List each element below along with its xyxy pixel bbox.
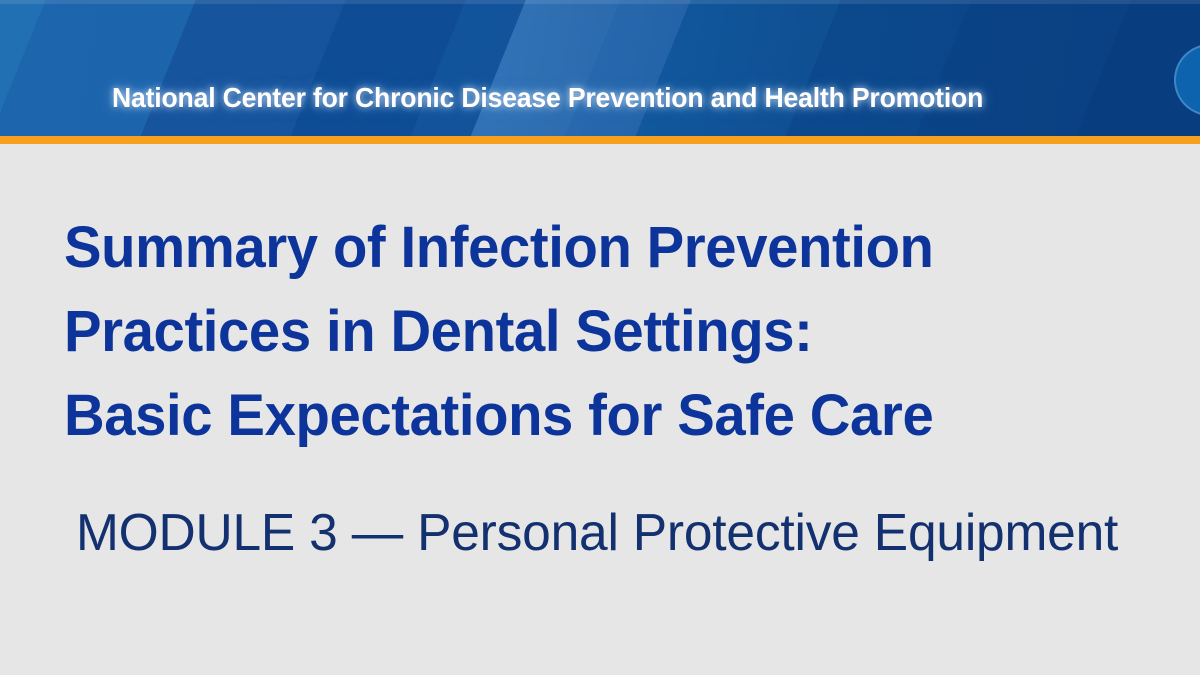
- cdc-seal-label: HEALTH: [1183, 54, 1200, 80]
- slide-subtitle: MODULE 3 — Personal Protective Equipment: [76, 502, 1175, 564]
- slide-title-line-2: Practices in Dental Settings:: [64, 290, 1112, 374]
- slide-title-line-3: Basic Expectations for Safe Care: [64, 374, 1112, 458]
- slide-title: Summary of Infection Prevention Practice…: [64, 206, 1112, 458]
- organization-name: National Center for Chronic Disease Prev…: [112, 82, 983, 114]
- presentation-slide: National Center for Chronic Disease Prev…: [0, 0, 1200, 675]
- slide-title-line-1: Summary of Infection Prevention: [64, 206, 1112, 290]
- slide-body: Summary of Infection Prevention Practice…: [0, 144, 1200, 675]
- accent-divider-bar: [0, 136, 1200, 144]
- header-top-highlight: [0, 0, 1200, 4]
- header-banner: National Center for Chronic Disease Prev…: [0, 0, 1200, 136]
